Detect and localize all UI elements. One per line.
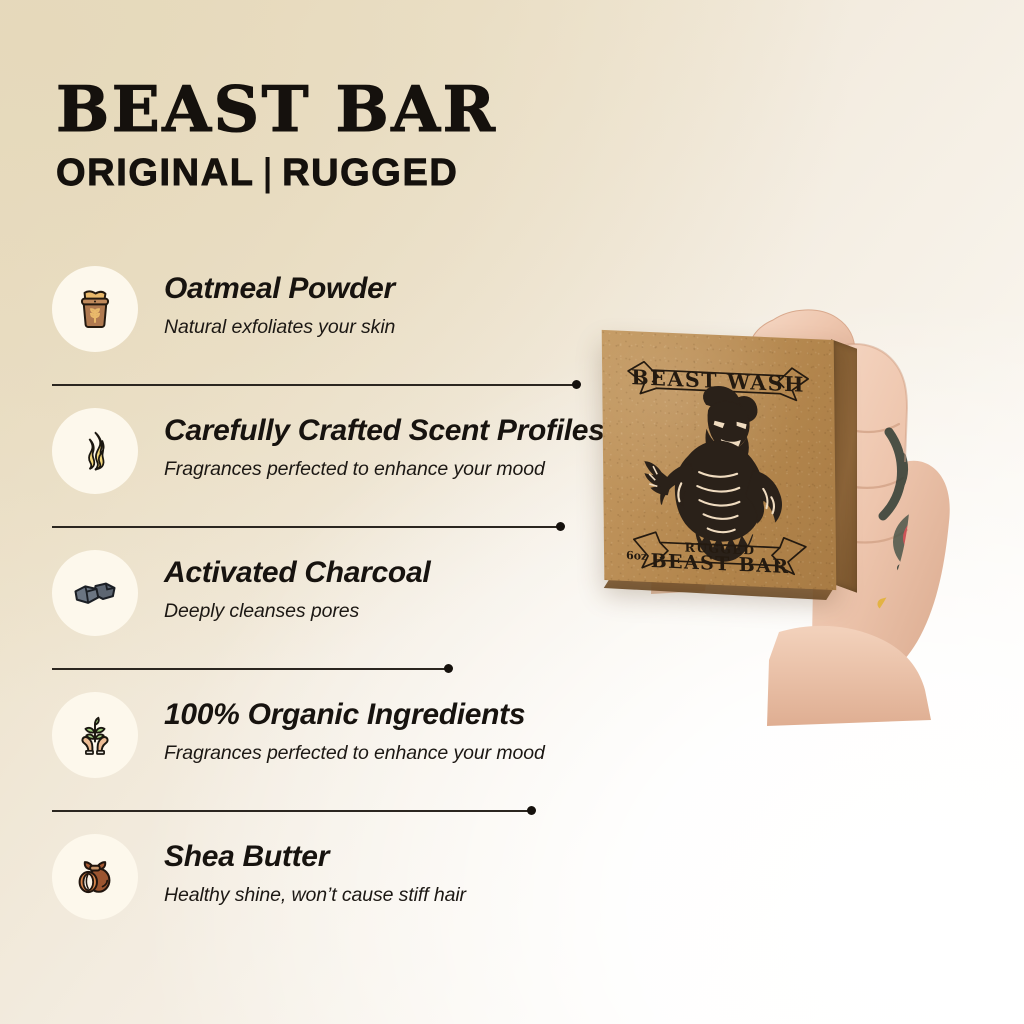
list-item: 100% Organic Ingredients Fragrances perf…	[0, 684, 640, 826]
box-weight-label: 6oz	[626, 549, 647, 563]
list-item: Shea Butter Healthy shine, won’t cause s…	[0, 826, 640, 968]
flour-sack-icon	[52, 266, 138, 352]
list-item: Activated Charcoal Deeply cleanses pores	[0, 542, 640, 684]
divider-dot	[527, 806, 536, 815]
feature-text: Carefully Crafted Scent Profiles Fragran…	[164, 414, 605, 481]
subtitle-separator: |	[263, 152, 274, 194]
feature-description: Deeply cleanses pores	[164, 600, 430, 623]
divider	[52, 379, 578, 391]
feature-description: Natural exfoliates your skin	[164, 316, 395, 339]
feature-text: 100% Organic Ingredients Fragrances perf…	[164, 698, 545, 765]
divider-dot	[556, 522, 565, 531]
infographic-canvas: BEAST BAR ORIGINAL|RUGGED	[0, 0, 1024, 1024]
divider	[52, 663, 450, 675]
subtitle-rugged: RUGGED	[282, 152, 458, 194]
feature-title: Shea Butter	[164, 840, 466, 875]
feature-title: Carefully Crafted Scent Profiles	[164, 414, 605, 449]
hands-sprout-icon	[52, 692, 138, 778]
shea-nut-icon	[52, 834, 138, 920]
feature-description: Fragrances perfected to enhance your moo…	[164, 458, 605, 481]
divider-dot	[444, 664, 453, 673]
product-photo: BEAST WASH	[565, 280, 1024, 780]
divider-line	[52, 668, 450, 670]
box-artwork: BEAST WASH	[602, 330, 837, 590]
divider-line	[52, 526, 562, 528]
list-item: Carefully Crafted Scent Profiles Fragran…	[0, 400, 640, 542]
subtitle-original: ORIGINAL	[56, 152, 255, 194]
beast-illustration	[644, 383, 782, 564]
feature-text: Oatmeal Powder Natural exfoliates your s…	[164, 272, 395, 339]
brand-title: BEAST BAR	[56, 78, 497, 141]
feature-title: Oatmeal Powder	[164, 272, 395, 307]
feature-title: Activated Charcoal	[164, 556, 430, 591]
box-bottom-banner-line2: BEAST BAR	[651, 550, 790, 578]
feature-title: 100% Organic Ingredients	[164, 698, 545, 733]
feature-list: Oatmeal Powder Natural exfoliates your s…	[0, 258, 640, 968]
feature-description: Healthy shine, won’t cause stiff hair	[164, 884, 466, 907]
scent-waves-icon	[52, 408, 138, 494]
divider	[52, 805, 533, 817]
feature-text: Shea Butter Healthy shine, won’t cause s…	[164, 840, 466, 907]
soap-box: BEAST WASH	[603, 335, 858, 597]
charcoal-chunks-icon	[52, 550, 138, 636]
page-title: BEAST BAR ORIGINAL|RUGGED	[56, 78, 497, 192]
brand-subtitle: ORIGINAL|RUGGED	[56, 154, 497, 192]
divider-line	[52, 384, 578, 386]
list-item: Oatmeal Powder Natural exfoliates your s…	[0, 258, 640, 400]
feature-description: Fragrances perfected to enhance your moo…	[164, 742, 545, 765]
divider	[52, 521, 562, 533]
divider-line	[52, 810, 533, 812]
feature-text: Activated Charcoal Deeply cleanses pores	[164, 556, 430, 623]
